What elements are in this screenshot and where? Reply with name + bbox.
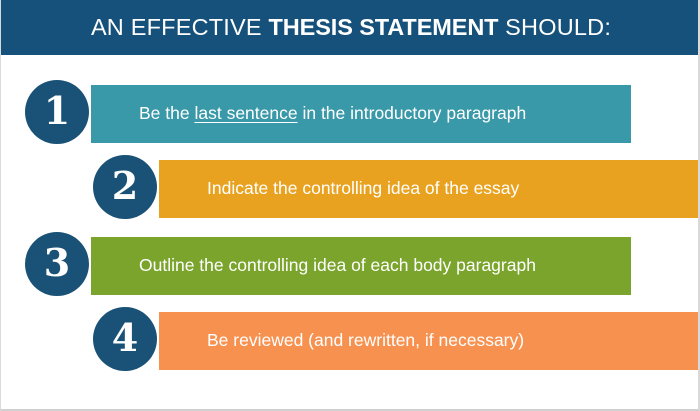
list-item-bar: Indicate the controlling idea of the ess…	[159, 160, 699, 218]
list-item-text-before: Indicate the controlling idea of the ess…	[207, 178, 519, 198]
list-item-number: 1	[44, 92, 70, 130]
list-item-number: 4	[112, 319, 138, 357]
page-title-emphasis: THESIS STATEMENT	[269, 14, 499, 40]
infographic-canvas: AN EFFECTIVE THESIS STATEMENT SHOULD: Be…	[0, 0, 700, 411]
list-item-text-after: in the introductory paragraph	[298, 103, 527, 123]
page-title-suffix: SHOULD:	[498, 14, 611, 40]
list-item-label: Outline the controlling idea of each bod…	[91, 256, 536, 275]
list-item-label: Be reviewed (and rewritten, if necessary…	[159, 331, 524, 350]
page-title: AN EFFECTIVE THESIS STATEMENT SHOULD:	[91, 16, 611, 40]
page-title-prefix: AN EFFECTIVE	[91, 14, 269, 40]
list-item-number-badge: 1	[25, 80, 89, 144]
list-item-label: Indicate the controlling idea of the ess…	[159, 179, 519, 198]
list-item-text-before: Outline the controlling idea of each bod…	[139, 255, 536, 275]
list-item-bar: Outline the controlling idea of each bod…	[91, 237, 631, 295]
list-item-text-underlined: last sentence	[194, 103, 297, 123]
list-item-number: 2	[112, 167, 138, 205]
list-item-number: 3	[44, 244, 70, 282]
list-item-text-before: Be reviewed (and rewritten, if necessary…	[207, 330, 524, 350]
list-item-bar: Be reviewed (and rewritten, if necessary…	[159, 312, 699, 370]
list-item-bar: Be the last sentence in the introductory…	[91, 85, 631, 143]
list-item-number-badge: 4	[93, 307, 157, 371]
list-item-number-badge: 3	[25, 232, 89, 296]
list-item-label: Be the last sentence in the introductory…	[91, 104, 526, 123]
list-item-number-badge: 2	[93, 155, 157, 219]
list-item-text-before: Be the	[139, 103, 194, 123]
header-band: AN EFFECTIVE THESIS STATEMENT SHOULD:	[1, 0, 700, 55]
